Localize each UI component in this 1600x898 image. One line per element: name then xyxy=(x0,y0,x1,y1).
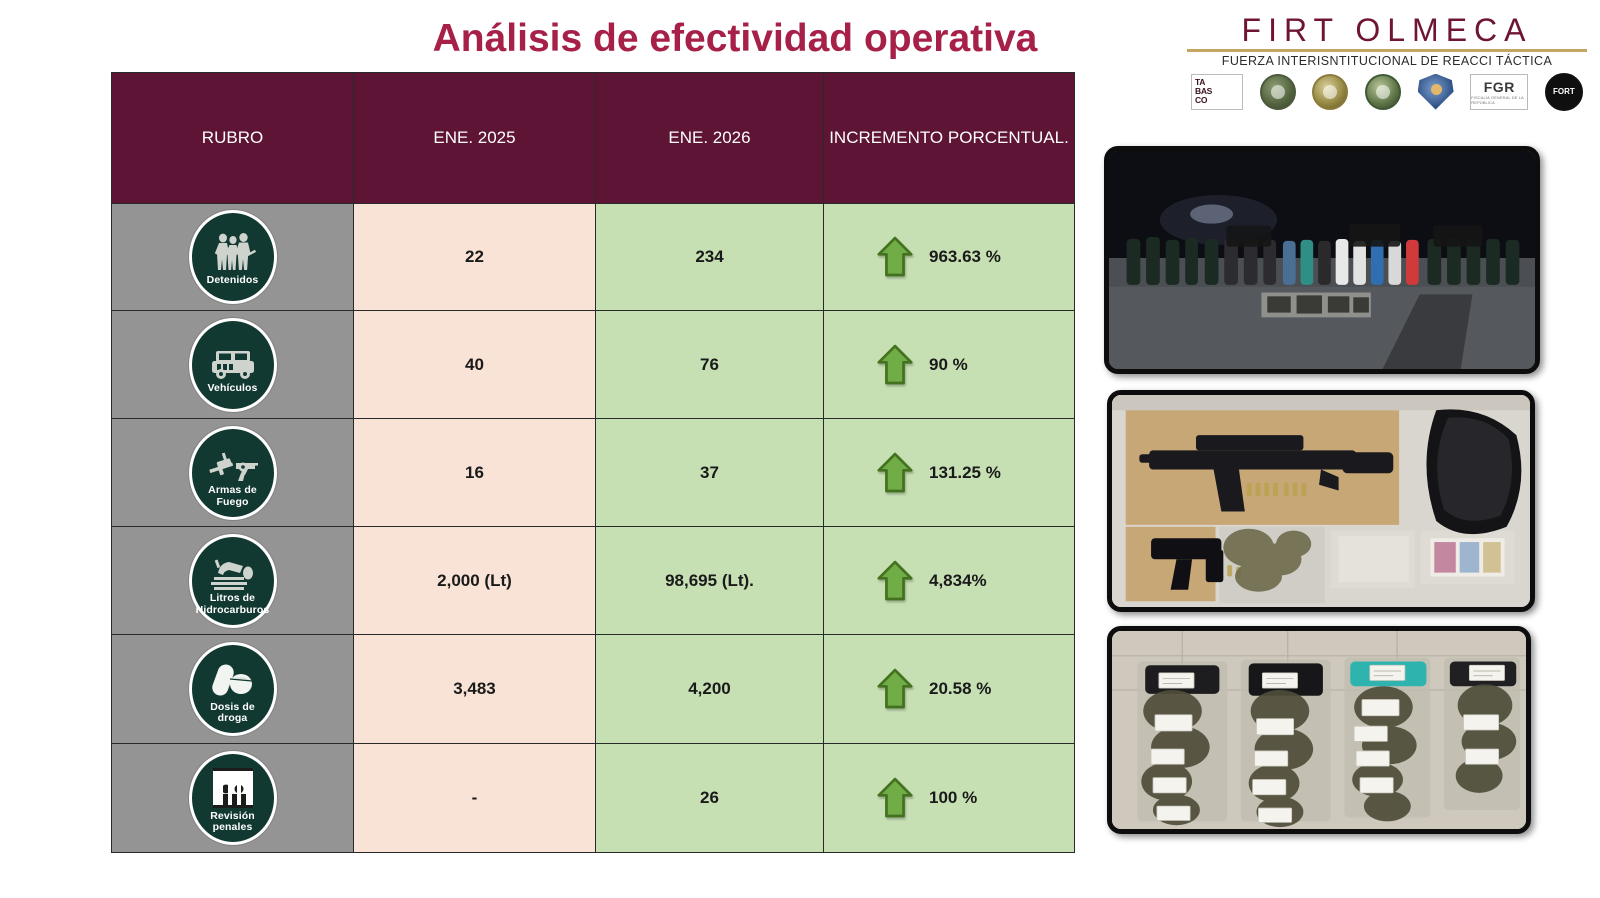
prison-review-icon xyxy=(211,763,255,809)
increment-value: 100 % xyxy=(929,788,1025,808)
semar-seal-icon xyxy=(1312,73,1348,111)
arrow-up-icon xyxy=(877,668,913,710)
increment-cell: 131.25 % xyxy=(824,419,1075,527)
fgr-seal-icon: FGR FISCALÍA GENERAL DE LA REPÚBLICA xyxy=(1470,73,1528,111)
tabasco-seal-icon: TA BAS CO xyxy=(1191,73,1243,111)
value-2026: 26 xyxy=(596,744,824,853)
table-row: Armas de Fuego 16 37 131.25 % xyxy=(112,419,1075,527)
increment-cell: 100 % xyxy=(824,744,1075,853)
emblem-caption: Armas de Fuego xyxy=(192,485,274,508)
emblem-caption: Litros de Hidrocarburos xyxy=(192,593,274,616)
slide-root: Análisis de efectividad operativa FIRT O… xyxy=(0,0,1600,898)
emblem-caption: Detenidos xyxy=(204,275,262,286)
prison-review-emblem: Revisión penales xyxy=(189,751,277,845)
firearms-icon xyxy=(207,437,259,483)
rubro-cell-detenidos: Detenidos xyxy=(112,204,354,311)
arrow-up-icon xyxy=(877,452,913,494)
rubro-cell-droga: Dosis de droga xyxy=(112,635,354,744)
table-body: Detenidos 22 234 963.63 % xyxy=(112,204,1075,853)
emblem-caption: Vehículos xyxy=(205,383,261,394)
hydrocarbons-icon xyxy=(208,545,258,591)
logo-subtitle: FUERZA INTERISNTITUCIONAL DE REACCI TÁCT… xyxy=(1187,54,1587,68)
value-2025: 3,483 xyxy=(354,635,596,744)
drug-doses-icon xyxy=(209,654,257,700)
gobierno-seal-icon xyxy=(1365,73,1401,111)
hydrocarbons-emblem: Litros de Hidrocarburos xyxy=(189,534,277,628)
detainees-icon xyxy=(210,227,256,273)
fort-seal-icon: FORT xyxy=(1545,73,1583,111)
photo-evidence-bags xyxy=(1107,626,1531,834)
value-2025: 16 xyxy=(354,419,596,527)
rubro-cell-vehiculos: Vehículos xyxy=(112,311,354,419)
value-2026: 234 xyxy=(596,204,824,311)
value-2025: 40 xyxy=(354,311,596,419)
value-2025: 2,000 (Lt) xyxy=(354,527,596,635)
effectiveness-table: RUBRO ENE. 2025 ENE. 2026 INCREMENTO POR… xyxy=(111,72,1075,853)
rubro-cell-armas: Armas de Fuego xyxy=(112,419,354,527)
table-row: Vehículos 40 76 90 % xyxy=(112,311,1075,419)
increment-value: 90 % xyxy=(929,355,1025,375)
fgr-label: FGR xyxy=(1484,79,1515,95)
rubro-cell-revision: Revisión penales xyxy=(112,744,354,853)
header-ene-2026: ENE. 2026 xyxy=(596,73,824,204)
arrow-up-icon xyxy=(877,344,913,386)
increment-value: 20.58 % xyxy=(929,679,1025,699)
logo-title: FIRT OLMECA xyxy=(1187,14,1587,48)
fort-label: FORT xyxy=(1545,73,1583,111)
table-row: Dosis de droga 3,483 4,200 20.58 % xyxy=(112,635,1075,744)
emblem-caption: Revisión penales xyxy=(192,811,274,834)
increment-cell: 20.58 % xyxy=(824,635,1075,744)
emblem-caption: Dosis de droga xyxy=(192,702,274,725)
drug-doses-emblem: Dosis de droga xyxy=(189,642,277,736)
arrow-up-icon xyxy=(877,236,913,278)
table-row: Litros de Hidrocarburos 2,000 (Lt) 98,69… xyxy=(112,527,1075,635)
value-2026: 98,695 (Lt). xyxy=(596,527,824,635)
value-2026: 76 xyxy=(596,311,824,419)
firearms-emblem: Armas de Fuego xyxy=(189,426,277,520)
increment-value: 131.25 % xyxy=(929,463,1025,483)
logo-divider xyxy=(1187,49,1587,52)
header-increment: INCREMENTO PORCENTUAL. xyxy=(824,73,1075,204)
value-2026: 4,200 xyxy=(596,635,824,744)
vehicle-icon xyxy=(208,335,258,381)
header-rubro: RUBRO xyxy=(112,73,354,204)
firt-olmeca-logo: FIRT OLMECA FUERZA INTERISNTITUCIONAL DE… xyxy=(1187,14,1587,126)
value-2025: 22 xyxy=(354,204,596,311)
page-title: Análisis de efectividad operativa xyxy=(300,18,1170,61)
agency-badge-row: TA BAS CO FGR FISCALÍA GENERAL xyxy=(1187,73,1587,111)
increment-cell: 4,834% xyxy=(824,527,1075,635)
sedena-seal-icon xyxy=(1260,73,1296,111)
tabasco-line-3: CO xyxy=(1195,96,1242,105)
photo-detainees-night xyxy=(1104,146,1540,374)
arrow-up-icon xyxy=(877,777,913,819)
fgr-sublabel: FISCALÍA GENERAL DE LA REPÚBLICA xyxy=(1471,95,1527,105)
detainees-emblem: Detenidos xyxy=(189,210,277,304)
header-ene-2025: ENE. 2025 xyxy=(354,73,596,204)
increment-cell: 90 % xyxy=(824,311,1075,419)
value-2026: 37 xyxy=(596,419,824,527)
rubro-cell-hidrocarburos: Litros de Hidrocarburos xyxy=(112,527,354,635)
table-row: Revisión penales - 26 100 % xyxy=(112,744,1075,853)
photo-seized-weapons xyxy=(1107,390,1535,612)
table-header-row: RUBRO ENE. 2025 ENE. 2026 INCREMENTO POR… xyxy=(112,73,1075,204)
increment-value: 963.63 % xyxy=(929,247,1025,267)
increment-value: 4,834% xyxy=(929,571,1025,591)
policia-seal-icon xyxy=(1418,73,1454,111)
arrow-up-icon xyxy=(877,560,913,602)
vehicle-emblem: Vehículos xyxy=(189,318,277,412)
value-2025: - xyxy=(354,744,596,853)
increment-cell: 963.63 % xyxy=(824,204,1075,311)
table-row: Detenidos 22 234 963.63 % xyxy=(112,204,1075,311)
